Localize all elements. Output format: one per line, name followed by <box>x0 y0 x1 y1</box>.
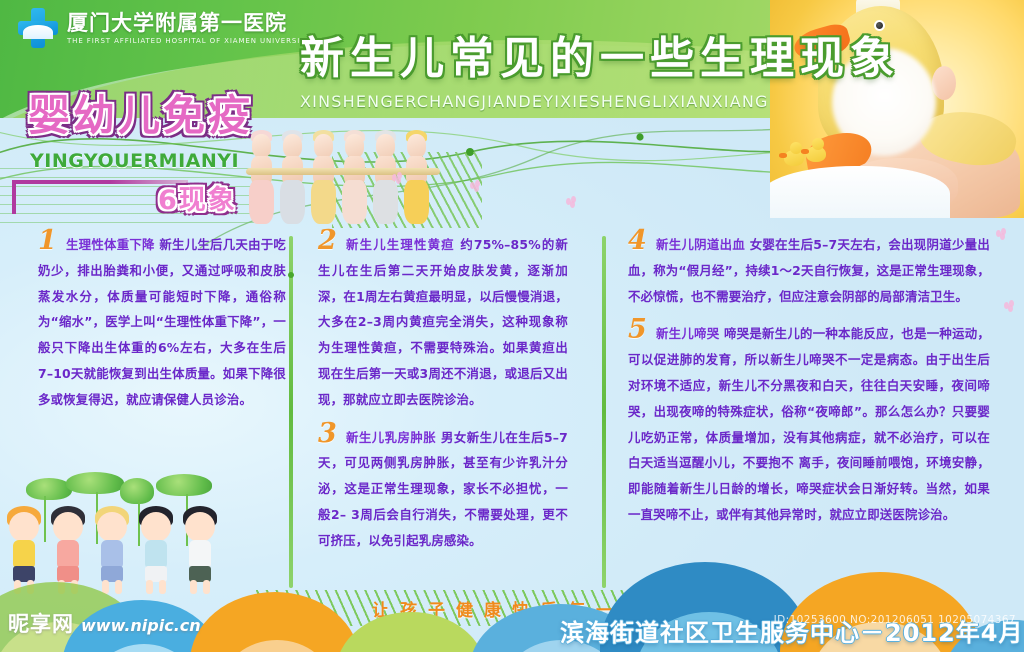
item-text: 生理性体重下降 新生儿生后几天由于吃奶少，排出胎粪和小便，又通过呼吸和皮肤蒸发水… <box>38 232 286 413</box>
watermark-brand: 昵享网 www.nipic.cn <box>8 608 201 638</box>
column-divider <box>289 236 293 588</box>
text-column-3: 4 新生儿阴道出血 女婴在生后5–7天左右，会出现阴道少量出血，称为“假月经”，… <box>628 232 990 540</box>
item-body: 啼哭是新生儿的一种本能反应，也是一种运动，可以促进肺的发育，所以新生儿啼哭不一定… <box>628 326 990 522</box>
babies-holding-bar <box>246 168 440 175</box>
main-title-block: 新生儿常见的一些生理现象 XINSHENGERCHANGJIANDEYIXIES… <box>300 22 860 111</box>
item-number: 5 <box>628 316 647 343</box>
item-text: 新生儿阴道出血 女婴在生后5–7天左右，会出现阴道少量出血，称为“假月经”，持续… <box>628 232 990 309</box>
watermark-brand-cn: 昵享网 <box>8 608 74 638</box>
white-towel <box>770 166 950 218</box>
phenomenon-item: 1 生理性体重下降 新生儿生后几天由于吃奶少，排出胎粪和小便，又通过呼吸和皮肤蒸… <box>38 232 286 413</box>
lotus-leaf <box>156 474 212 496</box>
flower-decor-icon <box>566 196 576 206</box>
text-column-1: 1 生理性体重下降 新生儿生后几天由于吃奶少，排出胎粪和小便，又通过呼吸和皮肤蒸… <box>38 232 286 425</box>
baby-figure <box>401 130 431 226</box>
section-title: 婴幼儿免疫 <box>28 82 253 143</box>
medical-cross-icon <box>18 8 58 48</box>
lotus-leaf <box>66 472 124 494</box>
watermark-id: ID:10253600 NO:201206051 10205074367 <box>774 614 1016 626</box>
hospital-logo: 厦门大学附属第一医院 THE FIRST AFFILIATED HOSPITAL… <box>18 8 311 48</box>
baby-figure <box>308 130 338 226</box>
phenomenon-item: 5 新生儿啼哭 啼哭是新生儿的一种本能反应，也是一种运动，可以促进肺的发育，所以… <box>628 321 990 527</box>
item-heading: 新生儿生理性黄疸 <box>318 237 455 252</box>
hospital-name-cn: 厦门大学附属第一医院 <box>67 11 311 35</box>
item-body: 新生儿生后几天由于吃奶少，排出胎粪和小便，又通过呼吸和皮肤蒸发水分，体质量可能短… <box>38 237 286 407</box>
item-number: 1 <box>38 227 57 254</box>
phenomenon-item: 4 新生儿阴道出血 女婴在生后5–7天左右，会出现阴道少量出血，称为“假月经”，… <box>628 232 990 309</box>
text-column-2: 2 新生儿生理性黄疸 约75%–85%的新生儿在生后第二天开始皮肤发黄，逐渐加深… <box>318 232 568 566</box>
phenomena-count-badge: 6现象 <box>158 178 237 217</box>
phenomenon-item: 3 新生儿乳房肿胀 男女新生儿在生后5–7天，可见两侧乳房肿胀，甚至有少许乳汁分… <box>318 425 568 554</box>
phenomenon-item: 2 新生儿生理性黄疸 约75%–85%的新生儿在生后第二天开始皮肤发黄，逐渐加深… <box>318 232 568 413</box>
hospital-name-en: THE FIRST AFFILIATED HOSPITAL OF XIAMEN … <box>67 37 311 45</box>
baby-figure <box>246 130 276 226</box>
divider-dot <box>288 272 294 278</box>
item-number: 3 <box>318 420 337 447</box>
leaf-stem <box>44 496 46 542</box>
baby-figure <box>277 130 307 226</box>
flower-decor-icon <box>392 172 402 182</box>
column-divider <box>602 236 606 588</box>
watermark-url: www.nipic.cn <box>81 616 201 635</box>
item-body: 约75%–85%的新生儿在生后第二天开始皮肤发黄，逐渐加深，在1周左右黄疸最明显… <box>318 237 568 407</box>
poster-canvas: 厦门大学附属第一医院 THE FIRST AFFILIATED HOSPITAL… <box>0 0 1024 652</box>
item-text: 新生儿啼哭 啼哭是新生儿的一种本能反应，也是一种运动，可以促进肺的发育，所以新生… <box>628 321 990 527</box>
flower-decor-icon <box>470 180 480 190</box>
page-title-pinyin: XINSHENGERCHANGJIANDEYIXIESHENGLIXIANXIA… <box>300 92 860 111</box>
section-title-block: 婴幼儿免疫 YINGYOUERMIANYI <box>28 82 253 172</box>
baby-figure <box>339 130 369 226</box>
rubber-duck-toy-2 <box>806 146 826 162</box>
duck-eye <box>874 20 885 31</box>
bracket-decor <box>12 180 110 214</box>
item-body: 男女新生儿在生后5–7天，可见两侧乳房肿胀，甚至有少许乳汁分泌，这是正常生理现象… <box>318 430 568 548</box>
item-text: 新生儿乳房肿胀 男女新生儿在生后5–7天，可见两侧乳房肿胀，甚至有少许乳汁分泌，… <box>318 425 568 554</box>
item-number: 2 <box>318 227 337 254</box>
item-text: 新生儿生理性黄疸 约75%–85%的新生儿在生后第二天开始皮肤发黄，逐渐加深，在… <box>318 232 568 413</box>
page-title: 新生儿常见的一些生理现象 <box>300 22 860 86</box>
item-number: 4 <box>628 227 647 254</box>
